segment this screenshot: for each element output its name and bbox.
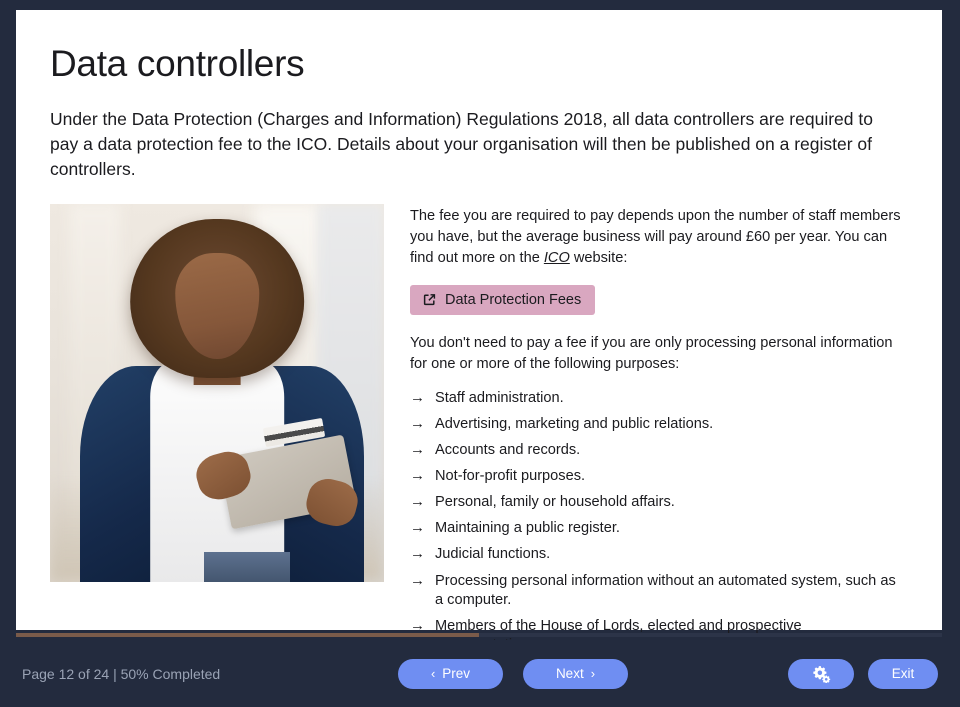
progress-bar-track [16,633,942,637]
navigation-buttons: ‹ Prev Next › [398,659,628,689]
arrow-right-icon: → [410,493,425,512]
list-item: → Advertising, marketing and public rela… [410,415,906,434]
list-item: → Judicial functions. [410,545,906,564]
list-item: → Accounts and records. [410,441,906,460]
list-item-label: Staff administration. [435,389,906,408]
list-item: → Processing personal information withou… [410,572,906,610]
ico-link[interactable]: ICO [544,250,570,266]
businesswoman-photo [50,204,384,582]
prev-button[interactable]: ‹ Prev [398,659,503,689]
list-item: → Staff administration. [410,389,906,408]
purposes-list: → Staff administration. → Advertising, m… [410,389,906,655]
page-title: Data controllers [50,44,906,85]
list-item-label: Accounts and records. [435,441,906,460]
fee-paragraph: The fee you are required to pay depends … [410,206,906,269]
text-column: The fee you are required to pay depends … [410,204,906,662]
footer-right-buttons: Exit [788,659,938,689]
next-button[interactable]: Next › [523,659,628,689]
chevron-right-icon: › [591,667,595,680]
list-item: → Personal, family or household affairs. [410,493,906,512]
fee-text-before: The fee you are required to pay depends … [410,208,901,266]
page-status-label: Page 12 of 24 | 50% Completed [22,666,220,682]
settings-button[interactable] [788,659,854,689]
data-protection-fees-button[interactable]: Data Protection Fees [410,285,595,315]
list-item-label: Maintaining a public register. [435,519,906,538]
course-slide-screen: Data controllers Under the Data Protecti… [0,0,960,707]
arrow-right-icon: → [410,415,425,434]
prev-button-label: Prev [442,666,470,681]
slide-body-columns: The fee you are required to pay depends … [50,204,906,662]
fee-text-after: website: [570,250,628,266]
arrow-right-icon: → [410,519,425,538]
arrow-right-icon: → [410,572,425,591]
list-item-label: Personal, family or household affairs. [435,493,906,512]
arrow-right-icon: → [410,441,425,460]
list-item-label: Processing personal information without … [435,572,906,610]
external-link-icon [422,292,437,307]
cogs-icon [811,665,831,683]
arrow-right-icon: → [410,545,425,564]
exit-button-label: Exit [892,666,915,681]
photo-column [50,204,384,582]
photo-jeans [204,552,291,582]
intro-paragraph: Under the Data Protection (Charges and I… [50,107,906,182]
list-item-label: Not-for-profit purposes. [435,467,906,486]
slide-card: Data controllers Under the Data Protecti… [16,10,942,630]
list-item: → Not-for-profit purposes. [410,467,906,486]
progress-bar-fill [16,633,479,637]
footer-toolbar: Page 12 of 24 | 50% Completed ‹ Prev Nex… [0,640,960,707]
list-item-label: Advertising, marketing and public relati… [435,415,906,434]
fees-button-label: Data Protection Fees [445,292,581,308]
chevron-left-icon: ‹ [431,667,435,680]
exit-button[interactable]: Exit [868,659,938,689]
purposes-intro-paragraph: You don't need to pay a fee if you are o… [410,333,906,375]
arrow-right-icon: → [410,389,425,408]
next-button-label: Next [556,666,584,681]
arrow-right-icon: → [410,467,425,486]
list-item: → Maintaining a public register. [410,519,906,538]
list-item-label: Judicial functions. [435,545,906,564]
